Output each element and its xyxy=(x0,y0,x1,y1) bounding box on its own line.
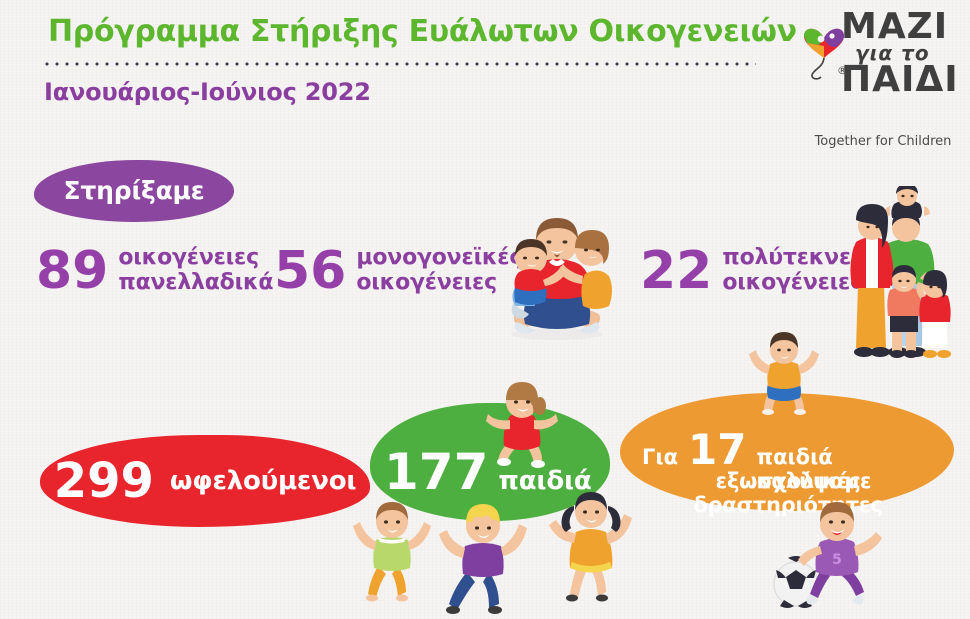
logo-wordmark: ΜΑΖΙ για το ΠΑΙΔΙ xyxy=(841,10,963,97)
stat-large-families: 22 πολύτεκνες οικογένειες xyxy=(640,245,864,297)
father-with-two-children-illustration xyxy=(487,196,627,342)
stat-label-line2: πανελλαδικά xyxy=(118,271,273,296)
stat-number: 22 xyxy=(640,245,712,297)
stat-label: οικογένειες πανελλαδικά xyxy=(118,246,273,295)
girl-in-orange-dress-illustration xyxy=(548,484,634,606)
activities-number: 17 xyxy=(688,429,746,471)
dotted-divider xyxy=(42,62,756,66)
stat-single-parent-families: 56 μονογονεϊκές οικογένειες xyxy=(274,245,522,297)
activities-prefix: Για xyxy=(642,445,678,469)
organization-logo: ΜΑΖΙ για το ΠΑΙΔΙ ® Together for Childre… xyxy=(795,6,963,156)
beneficiaries-number: 299 xyxy=(54,457,154,505)
logo-tagline: Together for Children xyxy=(803,134,963,149)
page-title: Πρόγραμμα Στήριξης Ευάλωτων Οικογενειών xyxy=(48,14,797,49)
stat-number: 56 xyxy=(274,245,346,297)
stat-number: 89 xyxy=(36,245,108,297)
blond-boy-in-purple-shirt-illustration xyxy=(437,498,529,616)
large-family-illustration xyxy=(838,186,966,368)
infographic-canvas: Πρόγραμμα Στήριξης Ευάλωτων Οικογενειών … xyxy=(0,0,970,619)
beneficiaries-blob: 299 ωφελούμενοι xyxy=(40,435,370,527)
boy-in-green-shirt-illustration xyxy=(352,494,432,606)
beneficiaries-label: ωφελούμενοι xyxy=(170,466,356,496)
supported-badge-label: Στηρίξαμε xyxy=(64,176,205,205)
svg-text:5: 5 xyxy=(832,552,842,568)
stat-families-nationwide: 89 οικογένειες πανελλαδικά xyxy=(36,245,273,297)
girl-in-red-dress-illustration xyxy=(484,382,562,468)
boy-playing-soccer-illustration: 5 xyxy=(770,496,890,614)
children-number: 177 xyxy=(384,447,488,497)
logo-line-mazi: ΜΑΖΙ xyxy=(841,10,963,44)
stat-label-line1: οικογένειες xyxy=(118,246,273,271)
page-subtitle: Ιανουάριος-Ιούνιος 2022 xyxy=(44,78,371,106)
boy-in-orange-shirt-illustration xyxy=(748,332,820,416)
registered-trademark-mark: ® xyxy=(837,64,848,77)
supported-badge: Στηρίξαμε xyxy=(34,160,234,222)
logo-line-paidi: ΠΑΙΔΙ xyxy=(841,63,963,97)
